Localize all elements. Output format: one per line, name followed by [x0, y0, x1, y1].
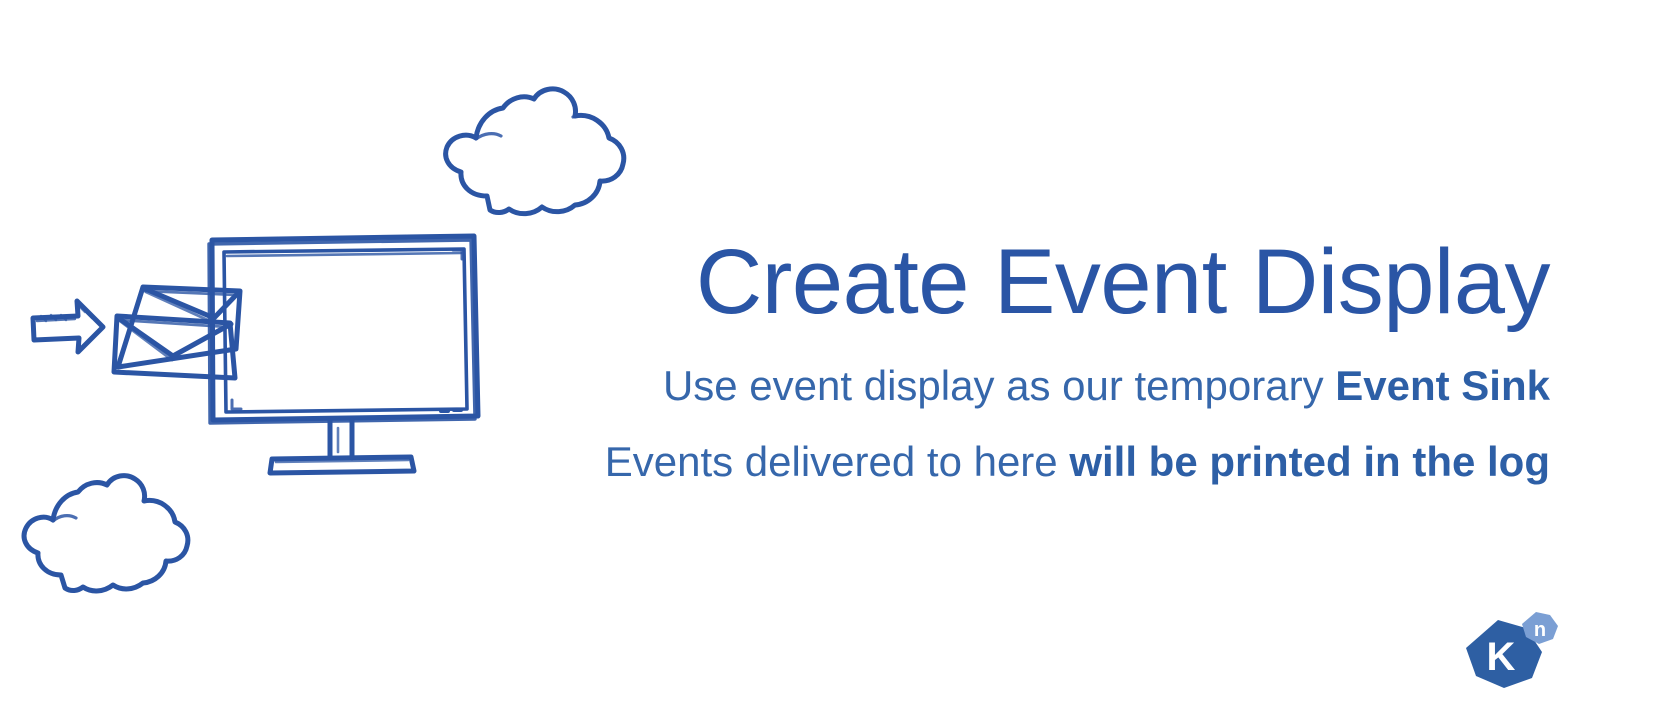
subtitle-1-emphasis: Event Sink [1335, 362, 1550, 409]
envelope-icon [114, 316, 235, 378]
text-block: Create Event Display Use event display a… [520, 236, 1550, 487]
slide-root: Create Event Display Use event display a… [0, 0, 1658, 726]
cloud-icon [446, 89, 624, 214]
arrow-icon [33, 301, 103, 352]
knative-logo-letter-n: n [1534, 619, 1546, 641]
page-title: Create Event Display [520, 236, 1550, 328]
monitor-icon [209, 236, 478, 473]
subtitle-1-plain: Use event display as our temporary [663, 362, 1335, 409]
subtitle-2-plain: Events delivered to here [605, 438, 1070, 485]
knative-logo: K n [1454, 606, 1566, 698]
cloud-icon [24, 476, 188, 591]
subtitle-2-emphasis: will be printed in the log [1069, 438, 1550, 485]
subtitle-line-1: Use event display as our temporary Event… [520, 362, 1550, 410]
subtitle-line-2: Events delivered to here will be printed… [520, 438, 1550, 486]
knative-logo-letter-k: K [1487, 635, 1516, 679]
